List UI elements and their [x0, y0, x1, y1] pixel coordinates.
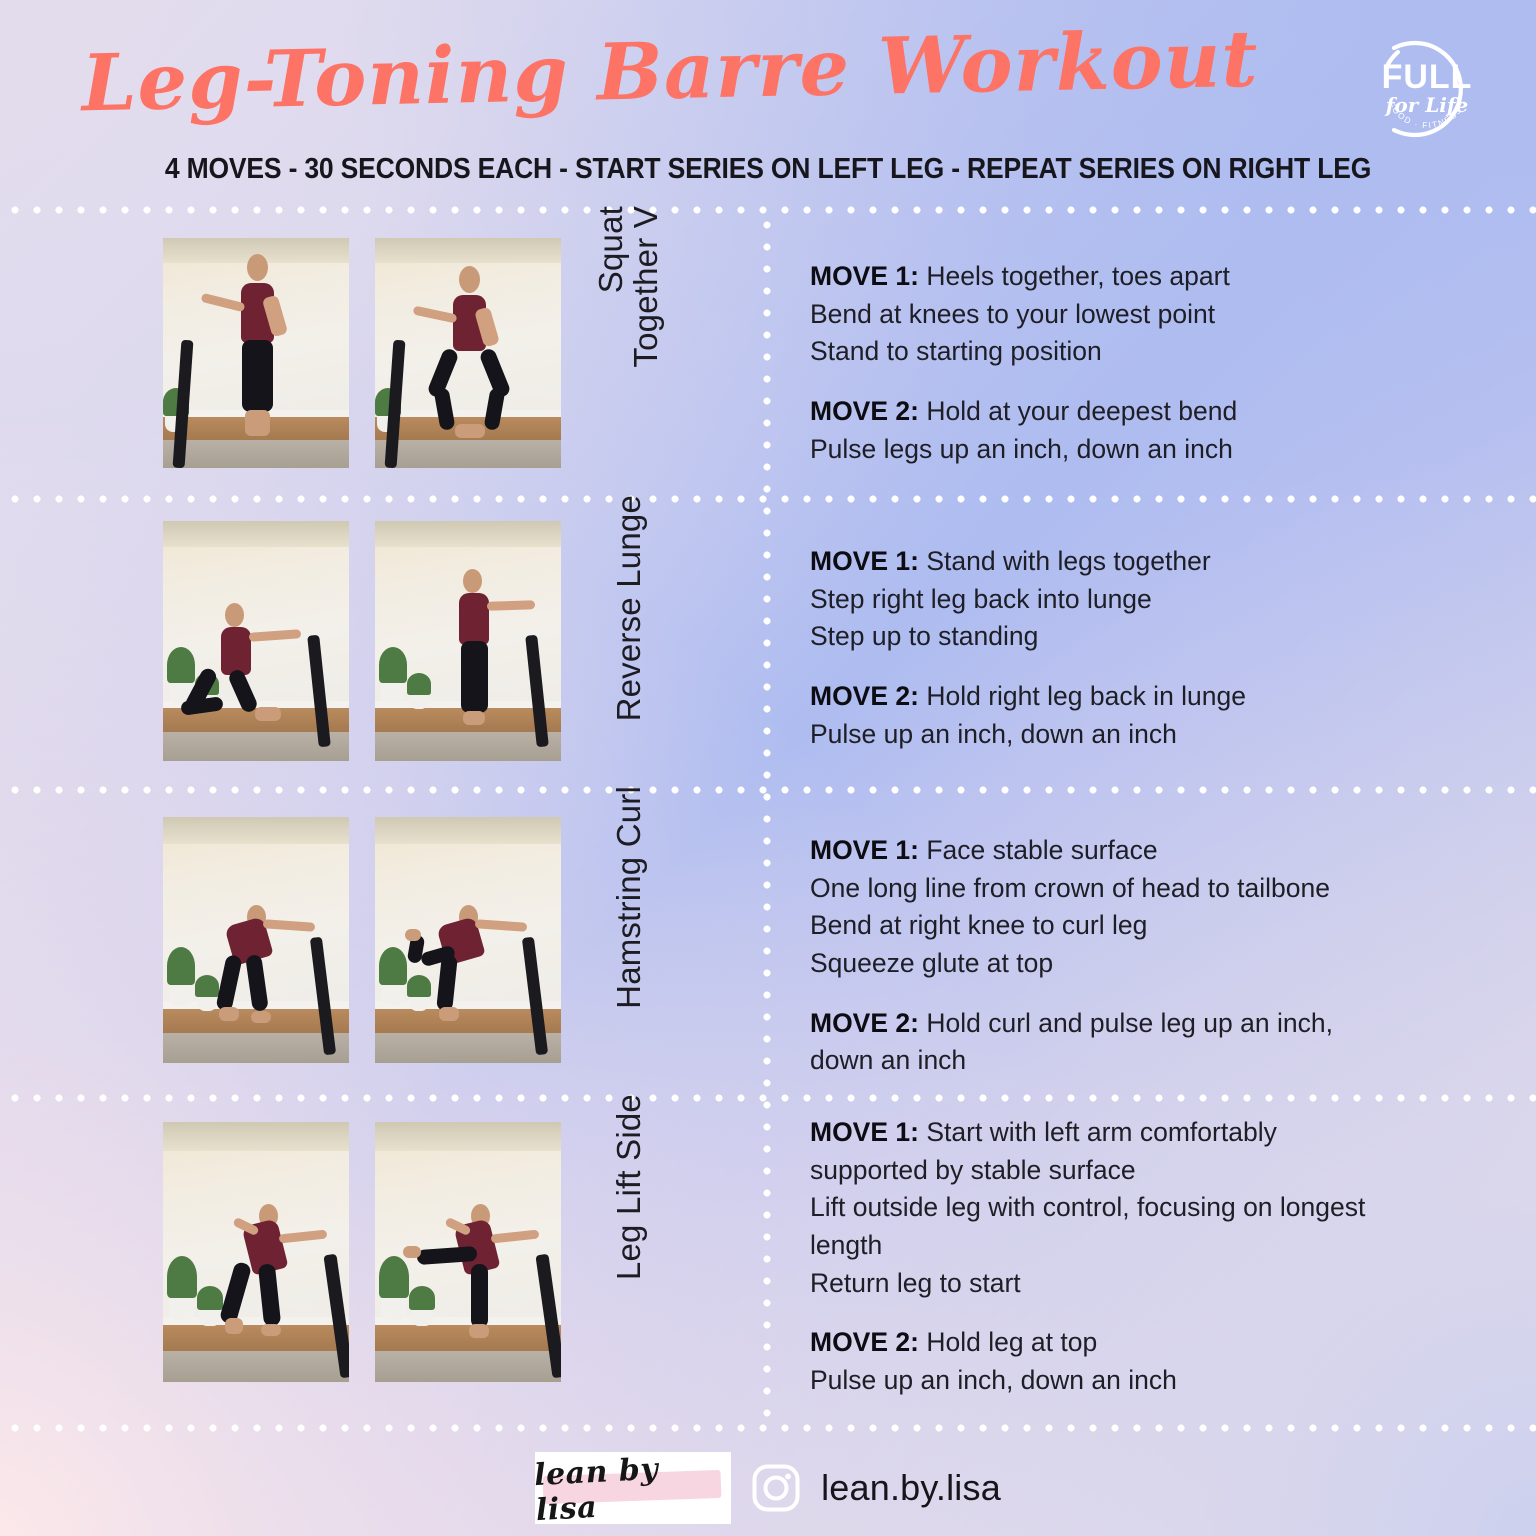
exercise-1-move1-line-3: Stand to starting position [810, 333, 1450, 371]
exercise-1-label-line2: Squat [594, 206, 627, 293]
svg-text:FULL: FULL [1382, 58, 1473, 96]
exercise-4-move1-label: MOVE 1: [810, 1117, 919, 1147]
exercise-3-photo-1 [163, 817, 349, 1063]
exercise-row-1: Together V Squat MOVE 1: Heels together,… [0, 206, 1536, 495]
exercise-3-label-line1: Hamstring Curl [612, 786, 645, 1009]
exercise-4-move1-line-1: Start with left arm comfortably [926, 1117, 1277, 1147]
exercise-row-4: Leg Lift Side MOVE 1: Start with left ar… [0, 1094, 1536, 1424]
instagram-icon[interactable] [751, 1463, 801, 1513]
exercise-2-move1-line-3: Step up to standing [810, 618, 1450, 656]
exercise-4-instructions: MOVE 1: Start with left arm comfortably … [810, 1114, 1450, 1399]
exercise-2-move2-label: MOVE 2: [810, 681, 919, 711]
exercise-3-move-1: MOVE 1: Face stable surface One long lin… [810, 832, 1450, 983]
exercise-1-move2-line-1: Hold at your deepest bend [926, 396, 1237, 426]
exercise-2-photo-1 [163, 521, 349, 761]
exercise-3-instructions: MOVE 1: Face stable surface One long lin… [810, 832, 1450, 1080]
exercise-1-instructions: MOVE 1: Heels together, toes apart Bend … [810, 258, 1450, 468]
exercise-4-label: Leg Lift Side [568, 1094, 688, 1424]
instagram-handle[interactable]: lean.by.lisa [821, 1467, 1001, 1509]
exercise-4-move1-line-2: supported by stable surface [810, 1152, 1450, 1190]
exercise-row-2: Reverse Lunge MOVE 1: Stand with legs to… [0, 495, 1536, 786]
exercise-2-move2-line-1: Hold right leg back in lunge [926, 681, 1246, 711]
exercise-1-move2-line-2: Pulse legs up an inch, down an inch [810, 431, 1450, 469]
exercise-3-move1-line-3: Bend at right knee to curl leg [810, 907, 1450, 945]
exercise-row-3: Hamstring Curl MOVE 1: Face stable surfa… [0, 786, 1536, 1094]
lean-by-lisa-logo[interactable]: lean by lisa [535, 1452, 731, 1524]
exercise-3-move1-line-1: Face stable surface [926, 835, 1157, 865]
exercise-1-label-line1: Together V [629, 206, 662, 368]
exercise-3-move2-line-1: Hold curl and pulse leg up an inch, [926, 1008, 1333, 1038]
exercise-4-move1-line-4: length [810, 1227, 1450, 1265]
page-title: Leg-Toning Barre Workout [0, 12, 1341, 131]
exercise-3-photo-2 [375, 817, 561, 1063]
exercise-4-move2-label: MOVE 2: [810, 1327, 919, 1357]
exercise-2-label-line1: Reverse Lunge [612, 495, 645, 721]
exercise-4-photos [163, 1122, 561, 1382]
exercise-4-move-1: MOVE 1: Start with left arm comfortably … [810, 1114, 1450, 1302]
exercise-2-move1-label: MOVE 1: [810, 546, 919, 576]
exercise-1-move1-line-2: Bend at knees to your lowest point [810, 296, 1450, 334]
exercise-2-move-1: MOVE 1: Stand with legs together Step ri… [810, 543, 1450, 656]
infographic-page: Leg-Toning Barre Workout 4 MOVES - 30 SE… [0, 0, 1536, 1536]
exercise-3-move2-label: MOVE 2: [810, 1008, 919, 1038]
full-for-life-logo: FULL for Life FOOD · FITNESS · LIFESTYLE [1364, 26, 1490, 152]
exercise-4-photo-2 [375, 1122, 561, 1382]
lean-by-lisa-logo-text: lean by lisa [535, 1452, 731, 1524]
exercise-2-move1-line-1: Stand with legs together [926, 546, 1210, 576]
exercise-3-photos [163, 817, 561, 1063]
exercise-1-photo-2 [375, 238, 561, 468]
exercise-1-move1-line-1: Heels together, toes apart [926, 261, 1229, 291]
exercise-4-move1-line-3: Lift outside leg with control, focusing … [810, 1189, 1450, 1227]
exercise-2-photos [163, 521, 561, 761]
exercise-4-move2-line-2: Pulse up an inch, down an inch [810, 1362, 1450, 1400]
exercise-4-move-2: MOVE 2: Hold leg at top Pulse up an inch… [810, 1324, 1450, 1399]
exercise-1-photos [163, 238, 561, 468]
footer: lean by lisa lean.by.lisa [0, 1452, 1536, 1524]
exercise-3-move2-line-2: down an inch [810, 1042, 1450, 1080]
exercise-4-label-line1: Leg Lift Side [612, 1094, 645, 1280]
exercise-4-move2-line-1: Hold leg at top [926, 1327, 1097, 1357]
exercise-3-label: Hamstring Curl [568, 786, 688, 1094]
exercise-3-move-2: MOVE 2: Hold curl and pulse leg up an in… [810, 1005, 1450, 1080]
exercise-4-move1-line-5: Return leg to start [810, 1265, 1450, 1303]
exercise-1-photo-1 [163, 238, 349, 468]
exercise-1-move2-label: MOVE 2: [810, 396, 919, 426]
exercise-2-move1-line-2: Step right leg back into lunge [810, 581, 1450, 619]
exercise-2-move2-line-2: Pulse up an inch, down an inch [810, 716, 1450, 754]
divider-bottom [0, 1424, 1536, 1432]
exercise-2-photo-2 [375, 521, 561, 761]
exercise-2-move-2: MOVE 2: Hold right leg back in lunge Pul… [810, 678, 1450, 753]
exercise-1-label: Together V Squat [568, 206, 688, 495]
page-subtitle: 4 MOVES - 30 SECONDS EACH - START SERIES… [54, 153, 1482, 186]
exercise-1-move1-label: MOVE 1: [810, 261, 919, 291]
exercise-3-move1-label: MOVE 1: [810, 835, 919, 865]
exercise-1-move-1: MOVE 1: Heels together, toes apart Bend … [810, 258, 1450, 371]
exercise-3-move1-line-2: One long line from crown of head to tail… [810, 870, 1450, 908]
exercise-2-label: Reverse Lunge [568, 495, 688, 786]
exercise-1-move-2: MOVE 2: Hold at your deepest bend Pulse … [810, 393, 1450, 468]
exercise-2-instructions: MOVE 1: Stand with legs together Step ri… [810, 543, 1450, 753]
exercise-3-move1-line-4: Squeeze glute at top [810, 945, 1450, 983]
exercise-4-photo-1 [163, 1122, 349, 1382]
